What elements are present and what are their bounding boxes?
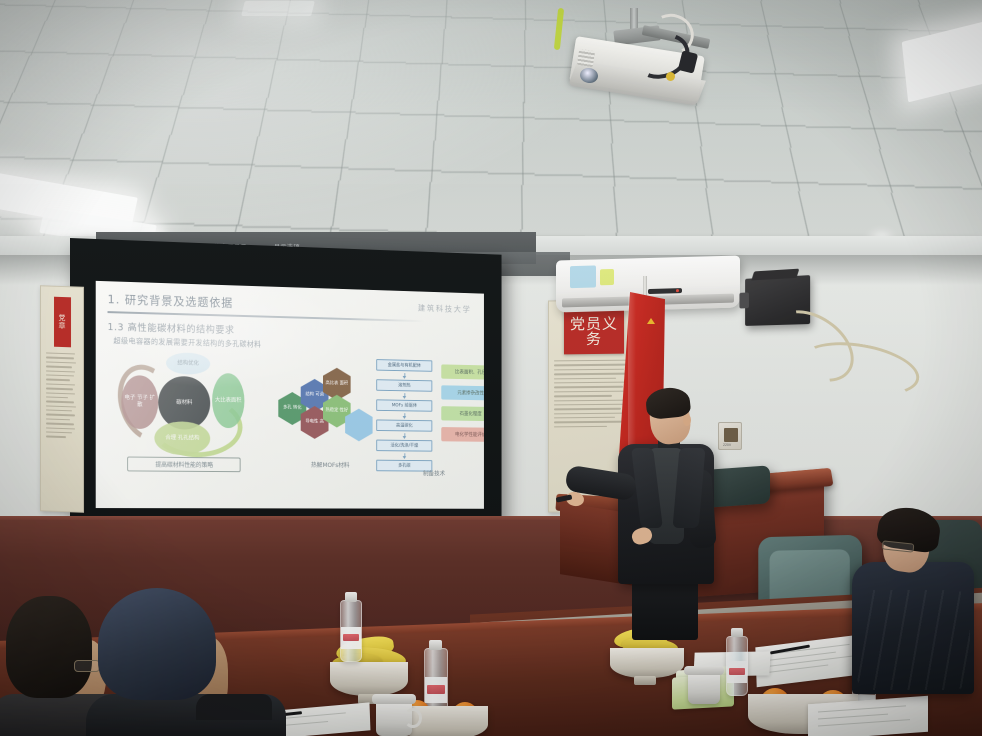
flow-box: 活化/洗涤/干燥 — [376, 440, 432, 452]
diagram-label-top: 结构优化 — [166, 352, 210, 375]
wall-socket-inlet — [724, 428, 738, 442]
projector — [556, 8, 716, 118]
fruit-bowl — [330, 662, 408, 696]
characterization-box: 电化学性能评价 — [441, 427, 484, 442]
presentation-slide: 1. 研究背景及选题依据 1.3 高性能碳材料的结构要求 超级电容器的发展需要开… — [96, 281, 484, 509]
paper-cup-handle — [404, 708, 422, 728]
speaker-bracket — [739, 292, 748, 308]
flow-box: 高温碳化 — [376, 419, 432, 431]
flow-arrow — [404, 453, 405, 458]
wall-poster-heading: 党员义务 — [564, 310, 624, 355]
projector-cable-green — [554, 8, 564, 50]
characterization-box-column: 比表面积、孔径 元素掺杂改性 石墨化程度 电化学性能评价 — [441, 364, 484, 448]
diagram-caption: 提高碳材料性能的策略 — [127, 457, 241, 473]
presenter-legs — [632, 576, 698, 640]
foreground-attendee-head — [6, 596, 92, 698]
fruit-bowl-base — [634, 676, 656, 685]
characterization-box: 元素掺杂改性 — [441, 385, 484, 400]
wall-poster-left: 党章 — [40, 285, 84, 513]
foreground-attendee-glasses — [74, 660, 100, 672]
foreground-attendee-beanie — [98, 588, 216, 700]
projector-connector — [666, 72, 675, 81]
water-bottle-cap — [429, 640, 442, 650]
flag-star — [647, 318, 655, 324]
characterization-box: 石墨化程度 — [441, 406, 484, 421]
water-bottle-label — [425, 677, 447, 703]
water-bottle[interactable] — [726, 636, 748, 696]
speaker-top — [751, 269, 799, 281]
paper-cup[interactable] — [688, 672, 720, 704]
presenter-ear — [683, 414, 691, 426]
university-logo: 建筑科技大学 — [418, 303, 472, 315]
hexagon-cluster: 多孔 转化 结构 可调 导电性 高 高比表 面积 热稳定 性好 — [278, 367, 381, 457]
diagram-blob-right: 大比表面积 — [212, 373, 244, 428]
flowchart-caption: 制备技术 — [380, 468, 484, 477]
flow-arrow — [404, 413, 405, 418]
ceiling — [0, 0, 982, 252]
paper-cup-lid — [684, 666, 724, 675]
fruit-bowl — [610, 648, 684, 678]
water-bottle-cap — [345, 592, 357, 602]
paper-cup-lid — [372, 694, 416, 704]
flow-box: 金属盐与有机配体 — [376, 359, 432, 372]
flow-box: 溶剂热 — [376, 379, 432, 392]
water-bottle-label — [341, 627, 361, 649]
hexagon-caption: 热解MOFs材料 — [275, 460, 386, 470]
strategy-circle-diagram: 结构优化 电子 节子 扩散 碳材料 大比表面积 合理 孔孔结构 提高碳材料性能的… — [106, 355, 281, 474]
water-bottle[interactable] — [340, 600, 362, 662]
flag-fold-highlight — [628, 292, 636, 462]
ceiling-shading — [0, 0, 982, 252]
projection-screen-surface: 1. 研究背景及选题依据 1.3 高性能碳材料的结构要求 超级电容器的发展需要开… — [96, 281, 484, 509]
foreground-attendee-collar — [196, 694, 272, 720]
projector-vent — [577, 49, 595, 67]
flow-arrow — [404, 373, 405, 378]
flow-arrow — [404, 393, 405, 398]
wall-socket-label: 220V — [723, 443, 731, 447]
ac-sticker — [570, 265, 596, 288]
projector-stem — [630, 8, 638, 30]
ceiling-light-panel — [241, 1, 315, 16]
water-bottle-label — [727, 661, 747, 683]
flow-box: MOFs 前驱体 — [376, 399, 432, 411]
characterization-box: 比表面积、孔径 — [441, 364, 484, 379]
water-bottle-cap — [731, 628, 743, 637]
seated-attendee-jacket-quilting — [856, 590, 970, 690]
flow-arrow — [404, 433, 405, 438]
process-flowchart: 金属盐与有机配体 溶剂热 MOFs 前驱体 高温碳化 活化/洗涤/干燥 多孔碳 — [376, 359, 432, 467]
ac-display-panel — [648, 288, 682, 294]
projection-screen[interactable]: 1. 研究背景及选题依据 1.3 高性能碳材料的结构要求 超级电容器的发展需要开… — [70, 238, 502, 523]
diagram-blob-bottom: 合理 孔孔结构 — [154, 421, 210, 455]
conference-room-photo: 开始放映幻灯片 切换窗口显示 显示选项 幻灯片放映 - 演示文稿 1. 研究背景… — [0, 0, 982, 736]
wall-poster-left-heading: 党章 — [54, 297, 71, 348]
diagram-blob-left: 电子 节子 扩散 — [121, 375, 158, 429]
wall-poster-left-text — [41, 346, 83, 447]
ac-sticker-secondary — [600, 269, 614, 285]
wall-socket[interactable]: 220V — [718, 422, 742, 450]
